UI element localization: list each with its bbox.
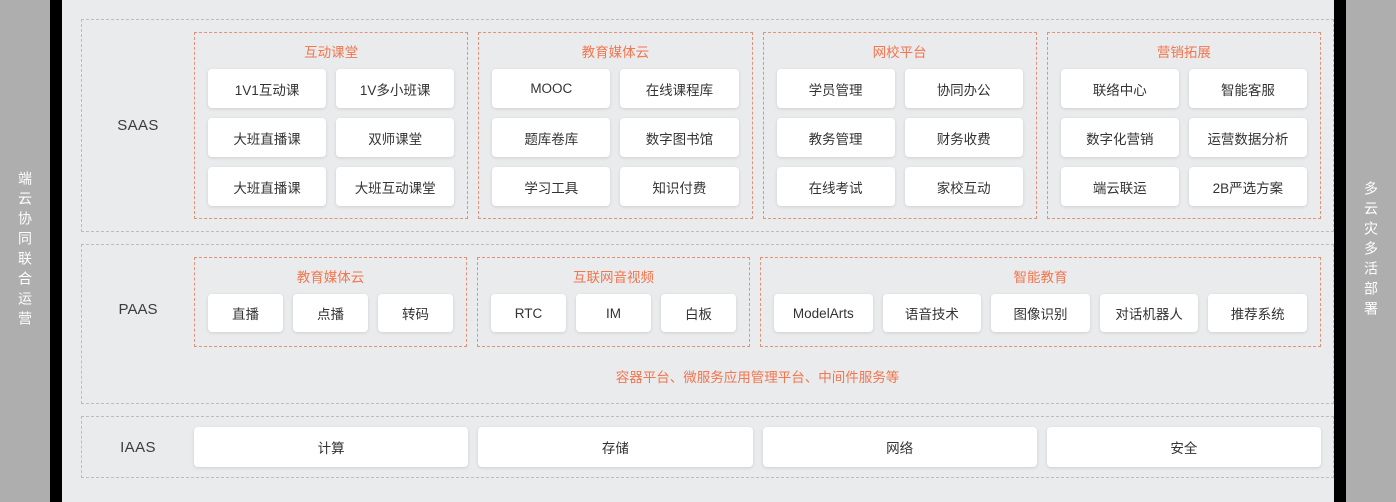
- chip-item[interactable]: 推荐系统: [1208, 294, 1307, 332]
- chip-item[interactable]: 白板: [661, 294, 736, 332]
- tile-item[interactable]: 学员管理: [777, 69, 895, 108]
- group-chips: ModelArts 语音技术 图像识别 对话机器人 推荐系统: [774, 294, 1307, 332]
- layer-saas-groups: 互动课堂 1V1互动课 1V多小班课 大班直播课 双师课堂 大班直播课 大班互动…: [194, 20, 1333, 231]
- tile-item[interactable]: 数字化营销: [1061, 118, 1179, 157]
- group-title: 教育媒体云: [297, 266, 365, 286]
- group-intelligent-education: 智能教育 ModelArts 语音技术 图像识别 对话机器人 推荐系统: [760, 257, 1321, 347]
- tile-item[interactable]: 数字图书馆: [620, 118, 738, 157]
- group-title: 互动课堂: [304, 41, 358, 61]
- tile-item[interactable]: 运营数据分析: [1189, 118, 1307, 157]
- chip-item[interactable]: 点播: [293, 294, 368, 332]
- tile-item[interactable]: MOOC: [492, 69, 610, 108]
- tile-item[interactable]: 双师课堂: [336, 118, 454, 157]
- layer-iaas-label: IAAS: [82, 439, 194, 456]
- chip-item[interactable]: ModelArts: [774, 294, 873, 332]
- chip-item[interactable]: 直播: [208, 294, 283, 332]
- chip-item[interactable]: 语音技术: [883, 294, 982, 332]
- tile-item[interactable]: 1V1互动课: [208, 69, 326, 108]
- layers-container: SAAS 互动课堂 1V1互动课 1V多小班课 大班直播课 双师课堂 大班直播课…: [62, 0, 1334, 502]
- tile-item[interactable]: 智能客服: [1189, 69, 1307, 108]
- group-online-school-platform: 网校平台 学员管理 协同办公 教务管理 财务收费 在线考试 家校互动: [763, 32, 1037, 219]
- group-title: 教育媒体云: [582, 41, 650, 61]
- tile-item[interactable]: 大班互动课堂: [336, 167, 454, 206]
- tile-item[interactable]: 学习工具: [492, 167, 610, 206]
- layer-saas: SAAS 互动课堂 1V1互动课 1V多小班课 大班直播课 双师课堂 大班直播课…: [81, 19, 1334, 232]
- group-tiles: 1V1互动课 1V多小班课 大班直播课 双师课堂 大班直播课 大班互动课堂: [208, 69, 454, 206]
- tile-item[interactable]: 知识付费: [620, 167, 738, 206]
- architecture-diagram: 端云协同联合运营 SAAS 互动课堂 1V1互动课 1V多小班课 大班直播课 双…: [0, 0, 1396, 502]
- group-title: 网校平台: [873, 41, 927, 61]
- left-rail-divider: [50, 0, 62, 502]
- layer-iaas: IAAS 计算 存储 网络 安全: [81, 416, 1334, 478]
- group-education-media-cloud-paas: 教育媒体云 直播 点播 转码: [194, 257, 467, 347]
- tile-item[interactable]: 家校互动: [905, 167, 1023, 206]
- chip-item[interactable]: RTC: [491, 294, 566, 332]
- group-tiles: MOOC 在线课程库 题库卷库 数字图书馆 学习工具 知识付费: [492, 69, 738, 206]
- group-interactive-classroom: 互动课堂 1V1互动课 1V多小班课 大班直播课 双师课堂 大班直播课 大班互动…: [194, 32, 468, 219]
- layer-saas-label: SAAS: [82, 117, 194, 134]
- group-tiles: 学员管理 协同办公 教务管理 财务收费 在线考试 家校互动: [777, 69, 1023, 206]
- layer-iaas-items: 计算 存储 网络 安全: [194, 427, 1333, 467]
- iaas-item[interactable]: 网络: [763, 427, 1037, 467]
- group-title: 营销拓展: [1157, 41, 1211, 61]
- tile-item[interactable]: 2B严选方案: [1189, 167, 1307, 206]
- tile-item[interactable]: 财务收费: [905, 118, 1023, 157]
- layer-paas-footer-note: 容器平台、微服务应用管理平台、中间件服务等: [194, 347, 1321, 386]
- tile-item[interactable]: 协同办公: [905, 69, 1023, 108]
- layer-paas-content: 教育媒体云 直播 点播 转码 互联网音视频 RTC IM 白板: [194, 245, 1333, 403]
- layer-paas: PAAS 教育媒体云 直播 点播 转码 互联网音视频 RTC: [81, 244, 1334, 404]
- group-internet-audio-video: 互联网音视频 RTC IM 白板: [477, 257, 750, 347]
- tile-item[interactable]: 大班直播课: [208, 118, 326, 157]
- left-rail-label: 端云协同联合运营: [18, 171, 32, 331]
- chip-item[interactable]: 转码: [378, 294, 453, 332]
- group-marketing-expansion: 营销拓展 联络中心 智能客服 数字化营销 运营数据分析 端云联运 2B严选方案: [1047, 32, 1321, 219]
- chip-item[interactable]: 对话机器人: [1100, 294, 1199, 332]
- tile-item[interactable]: 端云联运: [1061, 167, 1179, 206]
- group-chips: 直播 点播 转码: [208, 294, 453, 332]
- tile-item[interactable]: 在线考试: [777, 167, 895, 206]
- layer-paas-groups: 教育媒体云 直播 点播 转码 互联网音视频 RTC IM 白板: [194, 257, 1321, 347]
- tile-item[interactable]: 在线课程库: [620, 69, 738, 108]
- group-title: 智能教育: [1014, 266, 1068, 286]
- group-tiles: 联络中心 智能客服 数字化营销 运营数据分析 端云联运 2B严选方案: [1061, 69, 1307, 206]
- right-rail: 多云灾多活部署: [1346, 0, 1396, 502]
- group-education-media-cloud: 教育媒体云 MOOC 在线课程库 题库卷库 数字图书馆 学习工具 知识付费: [478, 32, 752, 219]
- tile-item[interactable]: 题库卷库: [492, 118, 610, 157]
- right-rail-label: 多云灾多活部署: [1364, 181, 1378, 321]
- iaas-item[interactable]: 安全: [1047, 427, 1321, 467]
- tile-item[interactable]: 教务管理: [777, 118, 895, 157]
- iaas-item[interactable]: 存储: [478, 427, 752, 467]
- left-rail: 端云协同联合运营: [0, 0, 50, 502]
- chip-item[interactable]: IM: [576, 294, 651, 332]
- layer-paas-label: PAAS: [82, 215, 194, 403]
- group-chips: RTC IM 白板: [491, 294, 736, 332]
- group-title: 互联网音视频: [573, 266, 654, 286]
- iaas-item[interactable]: 计算: [194, 427, 468, 467]
- chip-item[interactable]: 图像识别: [991, 294, 1090, 332]
- tile-item[interactable]: 大班直播课: [208, 167, 326, 206]
- tile-item[interactable]: 1V多小班课: [336, 69, 454, 108]
- right-rail-divider: [1334, 0, 1346, 502]
- tile-item[interactable]: 联络中心: [1061, 69, 1179, 108]
